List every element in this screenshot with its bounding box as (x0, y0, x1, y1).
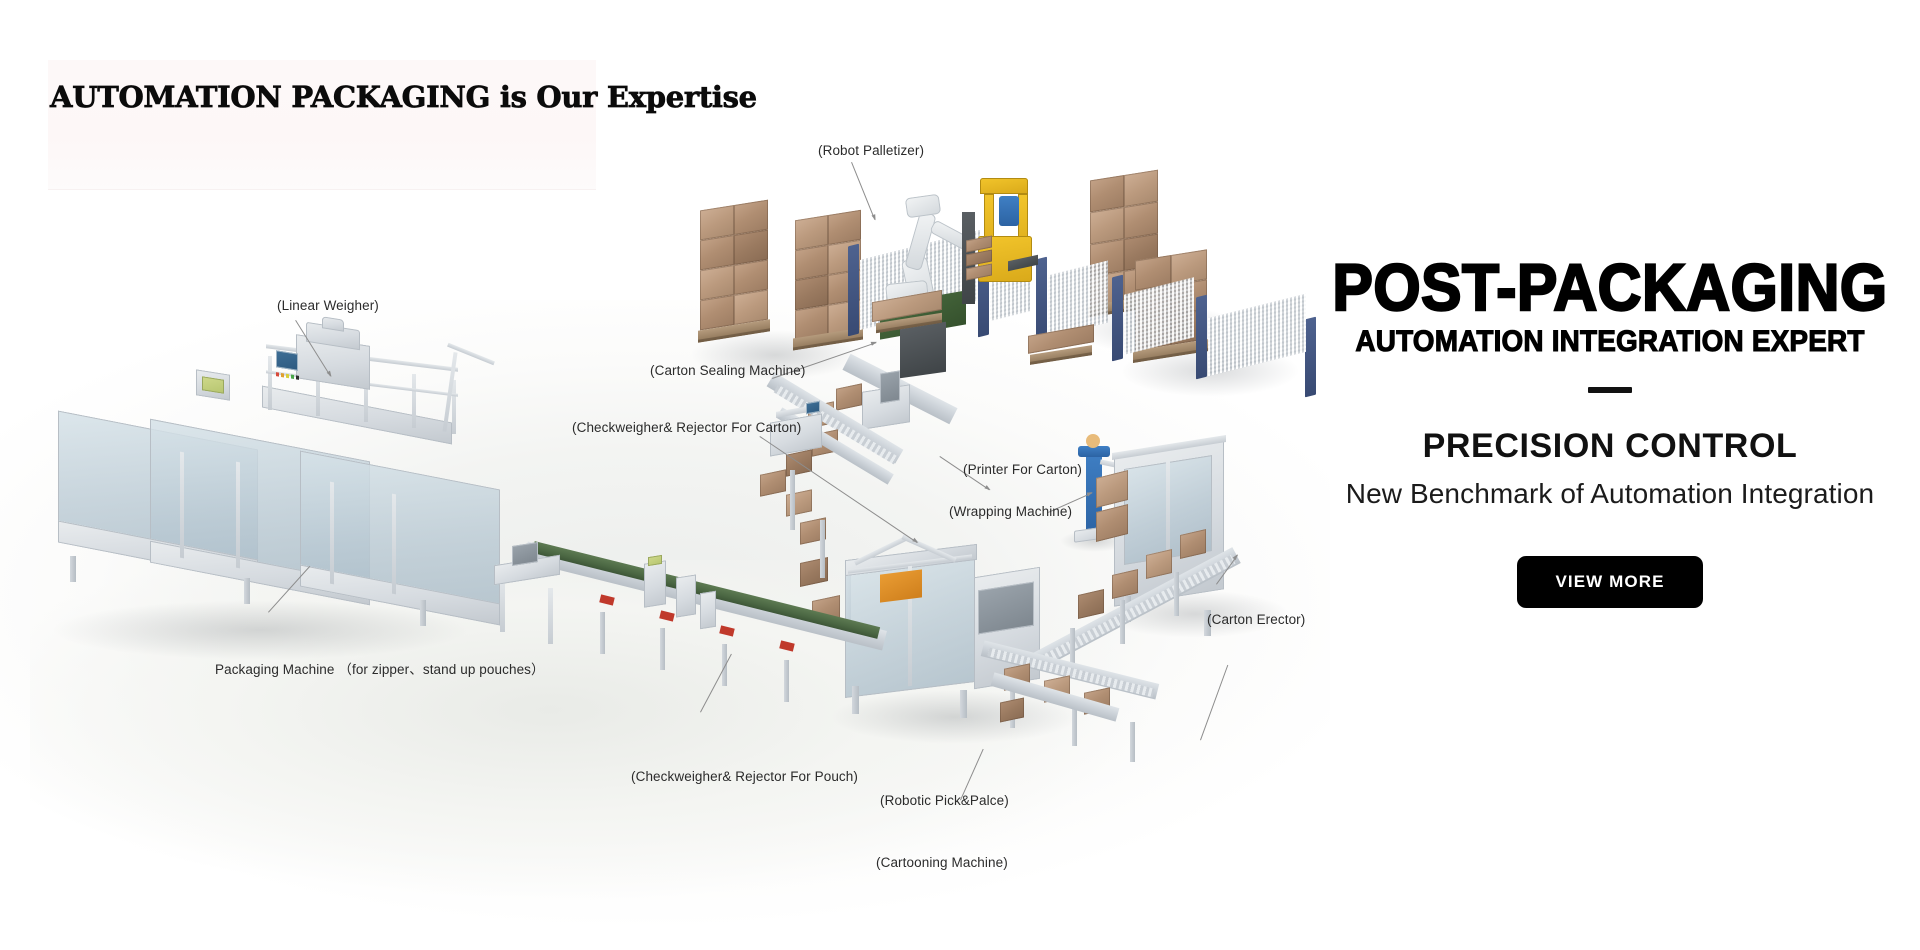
callout-wrapping-machine: (Wrapping Machine) (949, 504, 1072, 519)
promo-panel: POST-PACKAGING AUTOMATION INTEGRATION EX… (1300, 255, 1920, 608)
page-title: AUTOMATION PACKAGING is Our Expertise (50, 80, 757, 114)
callout-checkweigher-pouch: (Checkweigher& Rejector For Pouch) (631, 769, 858, 784)
callout-printer-for-carton: (Printer For Carton) (963, 462, 1082, 477)
callout-carton-sealing-machine: (Carton Sealing Machine) (650, 363, 805, 378)
callout-checkweigher-carton: (Checkweigher& Rejector For Carton) (572, 420, 801, 435)
view-more-button[interactable]: VIEW MORE (1517, 556, 1702, 608)
promo-subtitle: AUTOMATION INTEGRATION EXPERT (1322, 326, 1899, 358)
callout-robotic-pick-place: (Robotic Pick&Palce) (880, 793, 1009, 808)
callout-packaging-machine: Packaging Machine （for zipper、stand up p… (215, 658, 545, 678)
callout-linear-weigher: (Linear Weigher) (277, 298, 379, 313)
promo-divider (1588, 387, 1632, 393)
callout-cartooning-machine: (Cartooning Machine) (876, 855, 1008, 870)
callout-robot-palletizer: (Robot Palletizer) (818, 143, 924, 158)
promo-heading: PRECISION CONTROL (1300, 427, 1920, 466)
headline-divider (48, 189, 596, 190)
banner-slide: (Robot Palletizer) (Linear Weigher) (Car… (0, 0, 1920, 950)
promo-tagline: New Benchmark of Automation Integration (1300, 478, 1920, 510)
promo-title: POST-PACKAGING (1325, 255, 1895, 320)
callout-carton-erector: (Carton Erector) (1207, 612, 1305, 627)
